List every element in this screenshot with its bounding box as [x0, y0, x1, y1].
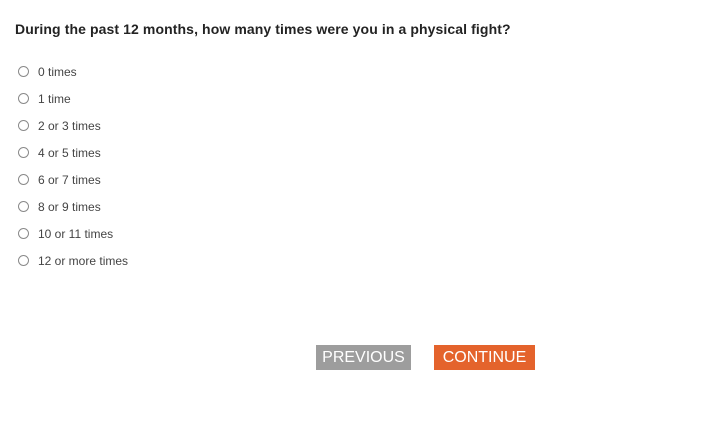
radio-button-icon[interactable]	[18, 228, 29, 239]
radio-option-row[interactable]: 2 or 3 times	[15, 112, 435, 139]
page-title: During the past 12 months, how many time…	[15, 21, 511, 37]
previous-button[interactable]: PREVIOUS	[316, 345, 411, 370]
radio-option-label: 4 or 5 times	[38, 146, 101, 160]
radio-button-icon[interactable]	[18, 93, 29, 104]
radio-option-row[interactable]: 6 or 7 times	[15, 166, 435, 193]
radio-button-icon[interactable]	[18, 147, 29, 158]
radio-option-label: 10 or 11 times	[38, 227, 113, 241]
radio-button-icon[interactable]	[18, 66, 29, 77]
radio-option-row[interactable]: 8 or 9 times	[15, 193, 435, 220]
radio-button-icon[interactable]	[18, 120, 29, 131]
radio-option-label: 12 or more times	[38, 254, 128, 268]
radio-option-label: 2 or 3 times	[38, 119, 101, 133]
radio-option-label: 0 times	[38, 65, 77, 79]
radio-option-row[interactable]: 0 times	[15, 58, 435, 85]
radio-option-row[interactable]: 12 or more times	[15, 247, 435, 274]
radio-option-label: 8 or 9 times	[38, 200, 101, 214]
radio-option-row[interactable]: 4 or 5 times	[15, 139, 435, 166]
radio-group: 0 times1 time2 or 3 times4 or 5 times6 o…	[15, 58, 435, 274]
continue-button[interactable]: CONTINUE	[434, 345, 535, 370]
radio-button-icon[interactable]	[18, 201, 29, 212]
radio-option-row[interactable]: 10 or 11 times	[15, 220, 435, 247]
radio-button-icon[interactable]	[18, 255, 29, 266]
radio-option-label: 1 time	[38, 92, 71, 106]
radio-option-row[interactable]: 1 time	[15, 85, 435, 112]
navigation-button-bar: PREVIOUS CONTINUE	[316, 345, 535, 370]
radio-button-icon[interactable]	[18, 174, 29, 185]
survey-question-page: During the past 12 months, how many time…	[0, 0, 704, 447]
radio-option-label: 6 or 7 times	[38, 173, 101, 187]
